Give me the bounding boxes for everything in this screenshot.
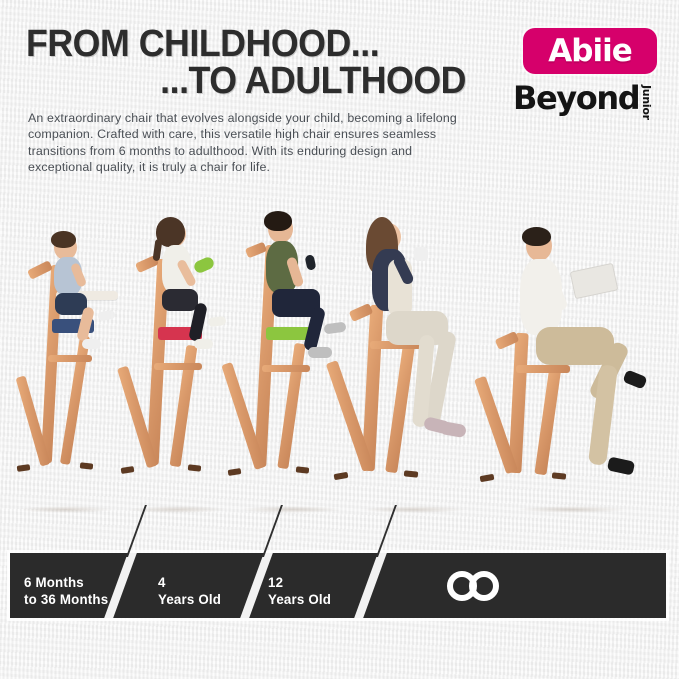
man-sock-lower	[607, 456, 635, 475]
chair-foot-rear	[334, 472, 349, 480]
figure-woman-with-cup	[340, 215, 488, 515]
figures-stage	[0, 205, 679, 515]
chair-footrest	[48, 355, 92, 362]
chair-seat-plank	[516, 365, 570, 373]
book-held	[192, 255, 215, 274]
body-paragraph: An extraordinary chair that evolves alon…	[28, 110, 478, 176]
chair-footrest	[262, 365, 310, 372]
timeline-label-2: 4 Years Old	[158, 574, 221, 608]
man-hair	[522, 227, 551, 246]
man-leg	[588, 364, 618, 465]
chair-foot-front	[552, 472, 567, 479]
chair-foot-rear	[480, 474, 495, 482]
chair-foot-rear	[228, 468, 242, 476]
product-infographic: FROM CHILDHOOD... ...TO ADULTHOOD An ext…	[0, 0, 679, 679]
child-shoe-2	[207, 316, 226, 327]
product-name-row: Beyond Junior	[513, 81, 665, 120]
chair-foot-front	[80, 462, 94, 469]
child-shoe	[82, 339, 101, 349]
headline-block: FROM CHILDHOOD... ...TO ADULTHOOD	[26, 26, 466, 100]
child-hair	[51, 231, 76, 248]
chair-footrest	[154, 363, 202, 370]
woman-sock-2	[439, 421, 467, 438]
brand-name: Abiie	[523, 28, 657, 74]
newspaper-held	[570, 263, 619, 300]
chair-foot-rear	[17, 464, 31, 472]
infinity-icon	[447, 571, 523, 601]
chair-front-leg	[277, 343, 305, 469]
man-sock-upper	[622, 369, 647, 389]
figure-man-reading-newspaper	[488, 215, 656, 515]
abiie-logo-pill: Abiie	[523, 28, 657, 74]
chair-backrest	[27, 260, 53, 280]
cup-held	[414, 247, 428, 261]
chair-front-leg	[385, 345, 415, 473]
man-pants	[536, 327, 614, 365]
child-shoe	[308, 347, 332, 358]
child-hair	[264, 211, 292, 231]
child-shoe-2	[97, 310, 115, 322]
chair-foot-front	[188, 464, 202, 471]
child-shoe	[194, 339, 213, 349]
figure-toddler-in-high-chair	[8, 215, 123, 515]
child-braid	[153, 239, 163, 262]
chair-backrest	[245, 242, 267, 259]
chair-front-leg	[534, 365, 561, 476]
headline-line-2: ...TO ADULTHOOD	[52, 63, 466, 100]
timeline-label-1: 6 Months to 36 Months	[24, 574, 108, 608]
phone-held	[305, 254, 317, 271]
product-name: Beyond	[513, 81, 639, 115]
brand-logo: Abiie Beyond Junior	[513, 28, 665, 120]
chair-foot-front	[296, 466, 310, 473]
product-tier: Junior	[640, 85, 653, 120]
chair-foot-rear	[121, 466, 135, 474]
age-timeline: 6 Months to 36 Months 4 Years Old 12 Yea…	[10, 553, 666, 618]
timeline-label-3: 12 Years Old	[268, 574, 331, 608]
headline-line-1: FROM CHILDHOOD...	[26, 26, 440, 63]
figure-young-girl-with-book	[118, 215, 236, 515]
chair-foot-front	[404, 470, 419, 477]
child-skirt	[162, 289, 198, 311]
